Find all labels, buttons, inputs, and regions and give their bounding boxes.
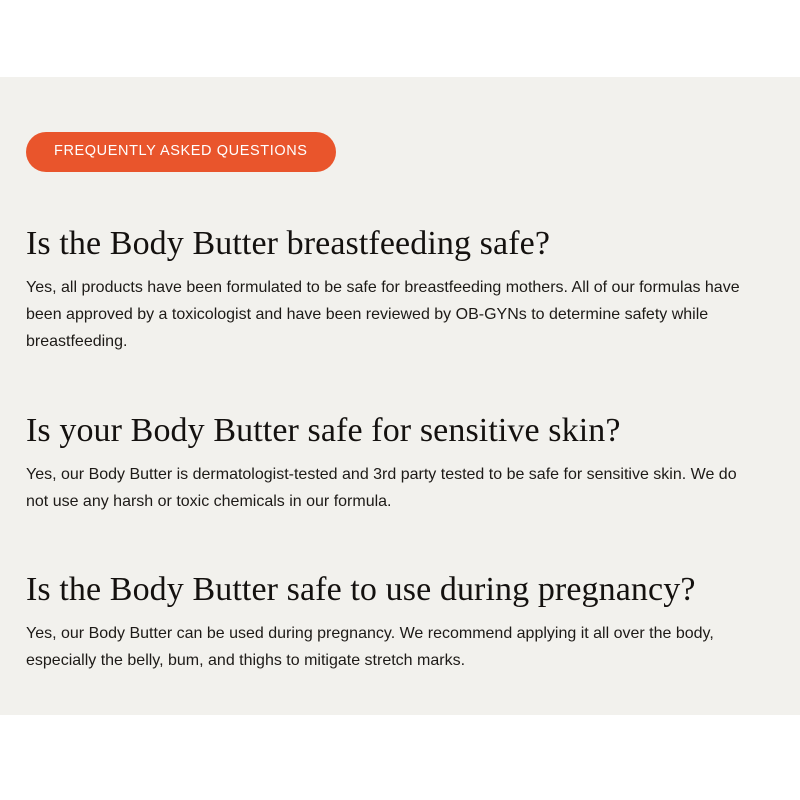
faq-section-badge: FREQUENTLY ASKED QUESTIONS xyxy=(26,132,336,172)
faq-item[interactable]: Is the Body Butter safe to use during pr… xyxy=(26,571,748,674)
faq-item[interactable]: Is the Body Butter breastfeeding safe? Y… xyxy=(26,225,748,356)
faq-list: Is the Body Butter breastfeeding safe? Y… xyxy=(26,225,748,675)
faq-question[interactable]: Is the Body Butter safe to use during pr… xyxy=(26,571,748,609)
faq-question[interactable]: Is the Body Butter breastfeeding safe? xyxy=(26,225,748,263)
faq-answer: Yes, our Body Butter is dermatologist-te… xyxy=(26,461,748,515)
faq-badge-row: FREQUENTLY ASKED QUESTIONS xyxy=(26,132,336,172)
page-root: FREQUENTLY ASKED QUESTIONS Is the Body B… xyxy=(0,0,800,800)
faq-answer: Yes, our Body Butter can be used during … xyxy=(26,620,748,674)
faq-answer: Yes, all products have been formulated t… xyxy=(26,274,748,356)
faq-section: FREQUENTLY ASKED QUESTIONS Is the Body B… xyxy=(0,77,800,715)
faq-item[interactable]: Is your Body Butter safe for sensitive s… xyxy=(26,412,748,515)
faq-question[interactable]: Is your Body Butter safe for sensitive s… xyxy=(26,412,748,450)
